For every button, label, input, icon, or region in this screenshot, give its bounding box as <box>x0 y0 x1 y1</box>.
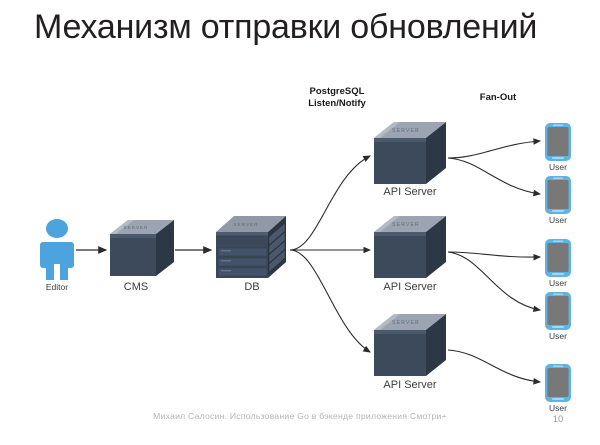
slide-canvas: Механизм отправки обновлений PostgreSQL … <box>0 0 600 445</box>
svg-text:SERVER: SERVER <box>392 128 420 134</box>
edge-db-to-api-server-1 <box>290 156 370 250</box>
edge-api-server-1-to-user-2 <box>448 158 540 194</box>
person-icon <box>34 218 80 280</box>
page-title: Механизм отправки обновлений <box>34 8 574 47</box>
annotation-postgres-listen-notify: PostgreSQL Listen/Notify <box>294 86 380 110</box>
user-node-4[interactable] <box>544 291 572 336</box>
svg-text:SERVER: SERVER <box>233 222 258 227</box>
api-server-label-1: API Server <box>360 186 460 198</box>
edge-api-server-1-to-user-1 <box>448 141 540 158</box>
user-label-2: User <box>534 215 582 225</box>
edge-api-server-3-to-user-5 <box>448 350 540 382</box>
mobile-phone-icon <box>544 291 572 331</box>
api-server-node-1[interactable]: SERVER <box>370 118 450 195</box>
user-node-2[interactable] <box>544 175 572 220</box>
server-icon: SERVER <box>106 216 178 282</box>
mobile-phone-icon <box>544 363 572 403</box>
svg-text:SERVER: SERVER <box>392 320 420 326</box>
connector-layer <box>0 0 600 445</box>
footer-attribution: Михаил Салосин. Использование Go в бэкен… <box>0 411 600 421</box>
edge-api-server-2-to-user-4 <box>448 252 540 310</box>
svg-text:SERVER: SERVER <box>123 225 148 230</box>
user-label-4: User <box>534 331 582 341</box>
cms-label: CMS <box>96 281 176 293</box>
cms-node[interactable]: SERVER <box>106 216 178 287</box>
server-icon: SERVER <box>370 310 450 382</box>
mobile-phone-icon <box>544 238 572 278</box>
user-node-1[interactable] <box>544 122 572 167</box>
db-node[interactable]: SERVER <box>212 212 292 291</box>
api-server-label-2: API Server <box>360 281 460 293</box>
editor-node[interactable] <box>34 218 80 285</box>
db-label: DB <box>212 281 292 293</box>
svg-text:SERVER: SERVER <box>392 222 420 228</box>
api-server-label-3: API Server <box>360 379 460 391</box>
api-server-node-2[interactable]: SERVER <box>370 212 450 289</box>
api-server-node-3[interactable]: SERVER <box>370 310 450 387</box>
edge-api-server-2-to-user-3 <box>448 252 540 257</box>
edge-db-to-api-server-3 <box>290 250 370 352</box>
user-node-5[interactable] <box>544 363 572 408</box>
database-rack-icon: SERVER <box>212 212 292 286</box>
user-node-3[interactable] <box>544 238 572 283</box>
user-label-1: User <box>534 162 582 172</box>
mobile-phone-icon <box>544 175 572 215</box>
server-icon: SERVER <box>370 118 450 190</box>
server-icon: SERVER <box>370 212 450 284</box>
annotation-fan-out: Fan-Out <box>468 92 528 104</box>
editor-label: Editor <box>24 282 90 292</box>
mobile-phone-icon <box>544 122 572 162</box>
user-label-3: User <box>534 278 582 288</box>
page-number: 10 <box>540 414 576 425</box>
